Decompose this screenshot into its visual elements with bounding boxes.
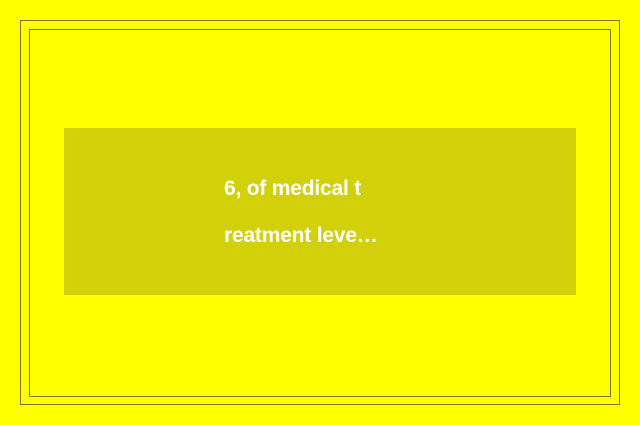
banner-text: 6, of medical t reatment leve…	[224, 165, 424, 259]
banner-canvas: 6, of medical t reatment leve…	[0, 0, 640, 425]
content-band: 6, of medical t reatment leve…	[64, 128, 576, 295]
